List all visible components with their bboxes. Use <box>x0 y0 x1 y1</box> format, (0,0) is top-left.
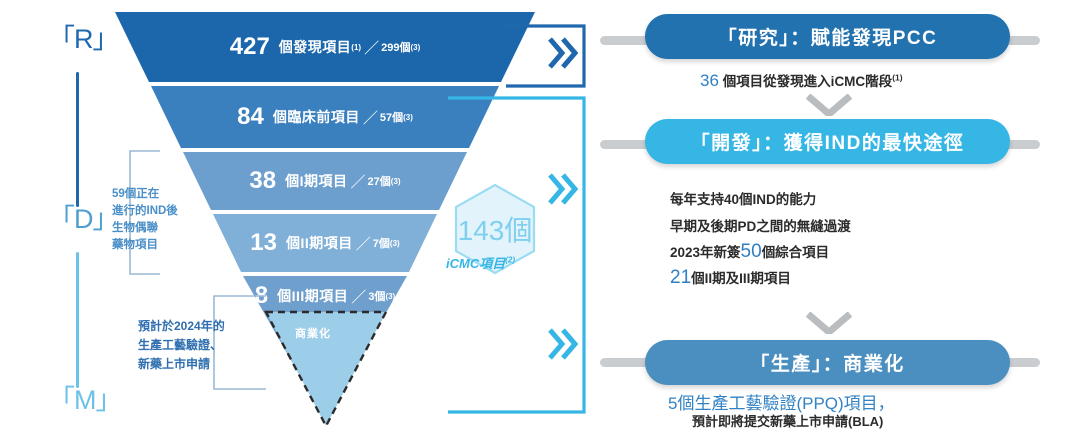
commercialization-label: 商業化 <box>295 325 331 341</box>
rail-label-r: 「R」 <box>48 26 119 53</box>
transition-note-research-develop: 36 個項目從發現進入iCMC階段(1) <box>700 70 903 91</box>
rail-label-d: 「D」 <box>48 206 119 233</box>
develop-bullet-1-pre: 每年支持40個IND的能力 <box>670 192 816 207</box>
develop-bullet-4: 21個II期及III期項目 <box>670 267 791 289</box>
callout-ind-line1: 59個正在 <box>112 186 178 203</box>
funnel-row-slash: ／ <box>351 171 366 192</box>
transition-note-sup: (1) <box>892 73 902 83</box>
develop-bullet-3-pre: 2023年新簽 <box>670 245 741 260</box>
funnel-row-number: 13 <box>250 229 277 257</box>
funnel-row-slash: ／ <box>351 286 366 307</box>
chevron-develop-icon <box>548 172 578 206</box>
callout-ind-post: 59個正在 進行的IND後 生物偶聯 藥物項目 <box>112 186 178 254</box>
funnel-row-number: 38 <box>249 167 276 195</box>
pill-manufacture[interactable]: 「生產」：商業化 <box>645 340 1010 385</box>
infographic-canvas: 「R」 「D」 「M」 427 個發現項目(1) ／ 299個(3) 84 個 <box>0 0 1080 447</box>
rail-line-d <box>76 252 79 388</box>
rail-label-m: 「M」 <box>48 387 122 414</box>
funnel-row-discovery[interactable]: 427 個發現項目(1) ／ 299個(3) <box>115 12 535 82</box>
funnel-row-label: 個III期項目 <box>277 286 348 306</box>
funnel-row-alt: 3個 <box>368 288 385 304</box>
funnel-row-alt: 57個 <box>380 109 403 125</box>
callout-ind-line4: 藥物項目 <box>112 237 178 254</box>
footer-ppq-line2: 預計即將提交新藥上市申請(BLA) <box>692 411 883 430</box>
callout-ind-line2: 進行的IND後 <box>112 203 178 220</box>
develop-bullet-2-pre: 早期及後期PD之間的無縫過渡 <box>670 219 851 234</box>
down-arrow-2-icon <box>806 312 852 334</box>
pill-develop[interactable]: 「開發」：獲得IND的最快途徑 <box>645 119 1010 164</box>
funnel-row-label: 個II期項目 <box>286 233 353 253</box>
callout-ppq-line1: 預計於2024年的 <box>138 317 225 336</box>
funnel-row-label: 個臨床前項目 <box>273 107 360 127</box>
develop-bullet-3: 2023年新簽50個綜合項目 <box>670 241 829 263</box>
funnel-row-alt-sup: (3) <box>391 177 401 186</box>
develop-bullet-3-big: 50 <box>741 241 762 262</box>
funnel-row-alt-sup: (3) <box>410 43 420 52</box>
funnel-row-alt: 27個 <box>368 173 391 189</box>
funnel-row-label: 個發現項目 <box>279 37 352 57</box>
funnel-row-alt: 299個 <box>381 39 410 55</box>
chevron-research-icon <box>548 36 578 70</box>
funnel-row-slash: ／ <box>364 37 379 58</box>
develop-bullet-2: 早期及後期PD之間的無縫過渡 <box>670 215 851 235</box>
develop-bullet-3-post: 個綜合項目 <box>762 245 830 260</box>
funnel-row-label: 個I期項目 <box>285 171 347 191</box>
funnel-row-number: 427 <box>230 33 270 61</box>
callout-ppq-line2: 生產工藝驗證、 <box>138 336 225 355</box>
funnel-row-slash: ／ <box>356 233 371 254</box>
transition-note-number: 36 <box>700 71 719 90</box>
funnel-row-number: 84 <box>237 103 264 131</box>
transition-note-text: 個項目從發現進入iCMC階段 <box>723 74 893 89</box>
down-arrow-1-icon <box>806 94 852 116</box>
rail-line-r <box>76 72 79 207</box>
develop-bullet-4-big: 21 <box>670 267 691 288</box>
connector-develop-manufacture <box>448 94 590 416</box>
chevron-manufacture-icon <box>548 327 578 361</box>
funnel-row-sup: (1) <box>351 43 361 52</box>
funnel-row-alt-sup: (3) <box>390 239 400 248</box>
develop-bullet-1: 每年支持40個IND的能力 <box>670 188 816 208</box>
pill-research[interactable]: 「研究」：賦能發現PCC <box>645 14 1010 59</box>
funnel-row-alt-sup: (3) <box>403 113 413 122</box>
funnel-row-text: 427 個發現項目(1) ／ 299個(3) <box>115 12 535 82</box>
callout-ppq-plan: 預計於2024年的 生產工藝驗證、 新藥上市申請 <box>138 317 225 374</box>
funnel-row-alt-sup: (3) <box>385 292 395 301</box>
callout-ppq-line3: 新藥上市申請 <box>138 355 225 374</box>
funnel-row-alt: 7個 <box>373 235 390 251</box>
funnel-row-slash: ／ <box>363 107 378 128</box>
develop-bullet-4-post: 個II期及III期項目 <box>691 271 791 286</box>
callout-ind-line3: 生物偶聯 <box>112 220 178 237</box>
